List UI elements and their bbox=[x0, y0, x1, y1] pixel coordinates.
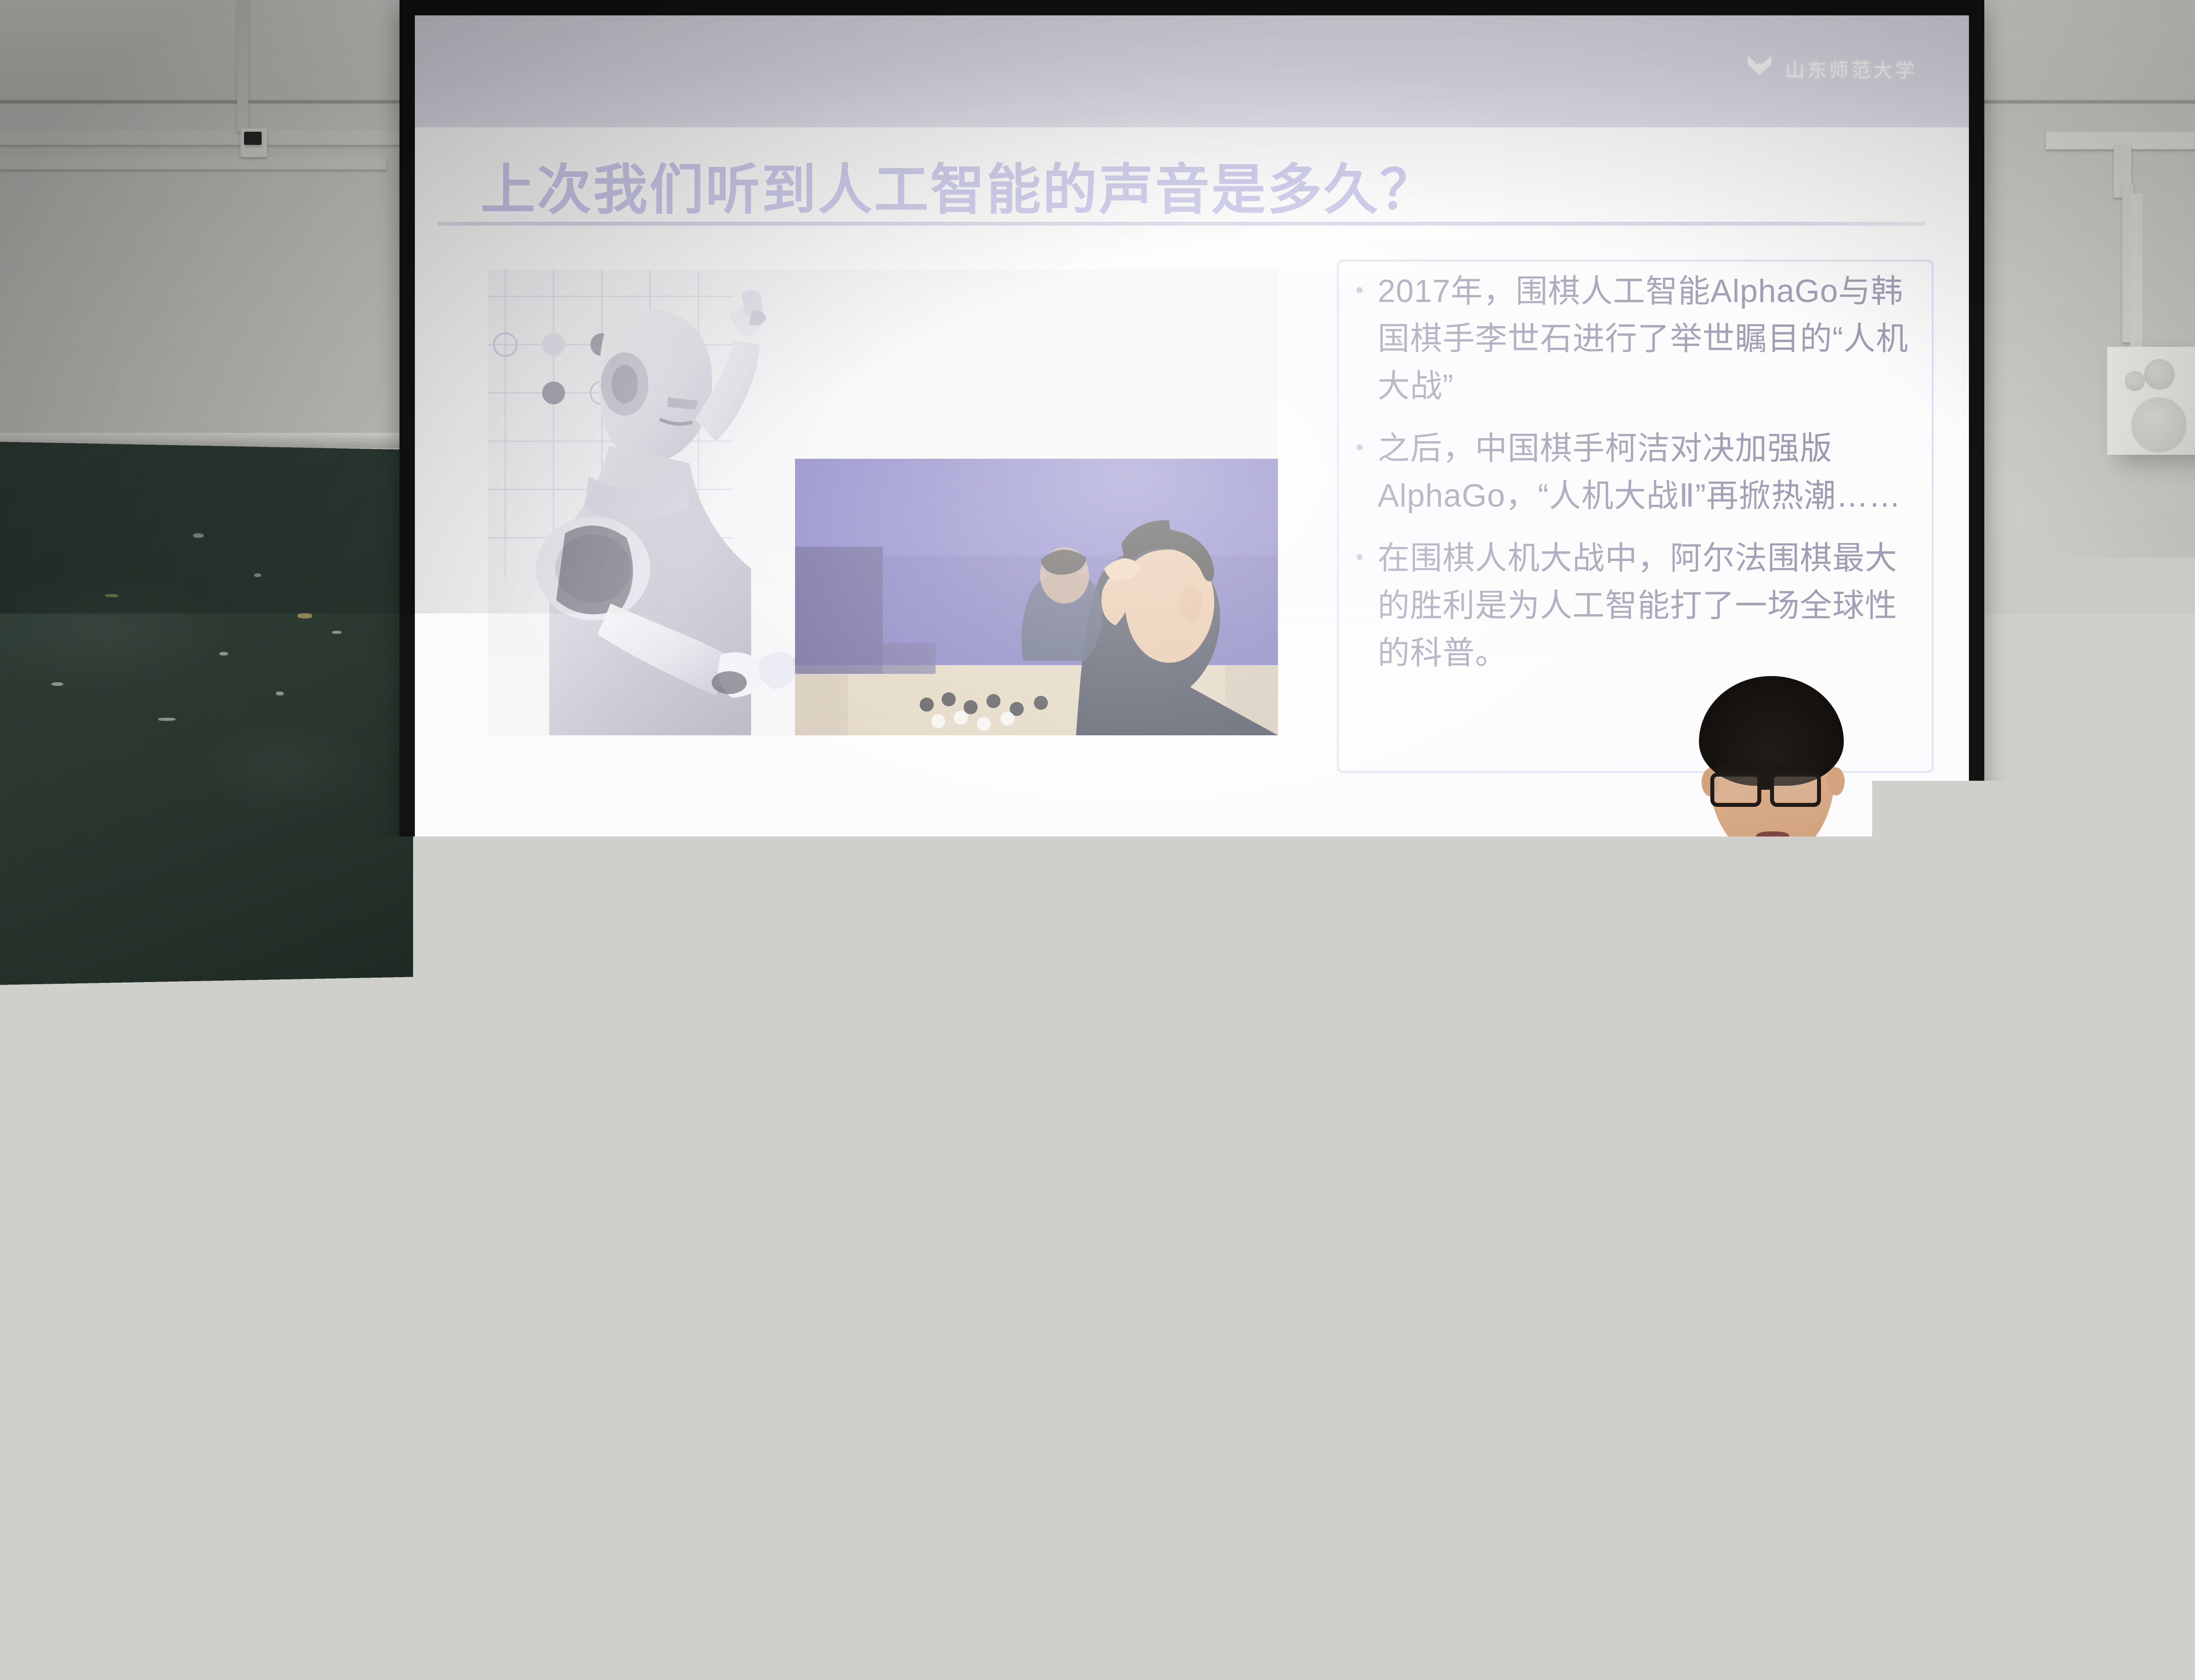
slide-title: 上次我们听到人工智能的声音是多久？ bbox=[481, 145, 1436, 224]
audience-member-head bbox=[1609, 874, 1701, 964]
audience-member-head bbox=[1327, 874, 1417, 961]
bullet-text: 2017年，围棋人工智能AlphaGo与韩国棋手李世石进行了举世瞩目的“人机大战… bbox=[1378, 268, 1923, 410]
conduit-pipe bbox=[0, 130, 430, 145]
shandong-normal-university-mark-icon bbox=[1745, 53, 1774, 84]
presenter-eyebrow-right bbox=[1776, 765, 1817, 771]
audience-member-head bbox=[732, 874, 827, 964]
audience-member-head bbox=[1909, 874, 2003, 964]
bullet-dot-icon bbox=[1357, 554, 1363, 560]
conduit-pipe bbox=[0, 156, 386, 169]
bullet-text: 之后，中国棋手柯洁对决加强版AlphaGo，“人机大战Ⅱ”再掀热潮…… bbox=[1378, 425, 1923, 520]
audience: BE CREATIVE bbox=[0, 856, 2195, 1680]
university-logo: 山东师范大学 bbox=[1745, 53, 1917, 84]
lecture-hall-screenshot: 山东师范大学 上次我们听到人工智能的声音是多久？ bbox=[0, 0, 2195, 1680]
slide-image-robot-vs-go-player bbox=[488, 270, 1278, 735]
bullet-dot-icon bbox=[1357, 287, 1363, 293]
audience-member-head bbox=[182, 874, 288, 975]
go-player-thinking-icon bbox=[795, 459, 1278, 735]
bullet-dot-icon bbox=[1357, 444, 1363, 450]
audience-member-head bbox=[1173, 874, 1277, 972]
conduit-pipe bbox=[237, 0, 248, 132]
glasses-lens-left-icon bbox=[1710, 773, 1761, 807]
slide-title-divider bbox=[438, 222, 1926, 226]
list-item: 在围棋人机大战中，阿尔法围棋最大的胜利是为人工智能打了一场全球性的科普。 bbox=[1357, 535, 1923, 677]
speaker-woofer-icon bbox=[2131, 397, 2187, 453]
glasses-lens-right-icon bbox=[1770, 773, 1821, 807]
wall-speaker bbox=[2107, 347, 2195, 455]
bullet-text: 在围棋人机大战中，阿尔法围棋最大的胜利是为人工智能打了一场全球性的科普。 bbox=[1378, 535, 1923, 677]
speaker-midrange-icon bbox=[2125, 371, 2145, 391]
presenter-ear-right bbox=[1827, 767, 1845, 795]
list-item: 之后，中国棋手柯洁对决加强版AlphaGo，“人机大战Ⅱ”再掀热潮…… bbox=[1357, 425, 1923, 520]
presenter-eyebrow-left bbox=[1716, 766, 1757, 772]
audience-member-head bbox=[2051, 874, 2150, 968]
speaker-mount-bracket bbox=[2130, 193, 2142, 351]
slide-header-band: 山东师范大学 bbox=[415, 15, 1969, 127]
speaker-tweeter-icon bbox=[2144, 359, 2175, 390]
slide-bullet-list: 2017年，围棋人工智能AlphaGo与韩国棋手李世石进行了举世瞩目的“人机大战… bbox=[1357, 268, 1923, 692]
glasses-bridge-icon bbox=[1760, 786, 1772, 790]
audience-member-head bbox=[316, 874, 404, 959]
audience-member-head bbox=[441, 874, 542, 968]
audience-member-head bbox=[601, 874, 691, 961]
audience-member-head bbox=[64, 874, 156, 961]
presenter-mouth bbox=[1756, 831, 1789, 843]
go-match-photo bbox=[795, 459, 1278, 735]
ceiling-fixture-lens-icon bbox=[244, 132, 262, 145]
audience-member-head bbox=[879, 874, 978, 968]
audience-member-head bbox=[1029, 874, 1122, 961]
list-item: 2017年，围棋人工智能AlphaGo与韩国棋手李世石进行了举世瞩目的“人机大战… bbox=[1357, 268, 1923, 410]
university-name: 山东师范大学 bbox=[1785, 54, 1917, 83]
audience-member-head bbox=[1462, 874, 1558, 966]
